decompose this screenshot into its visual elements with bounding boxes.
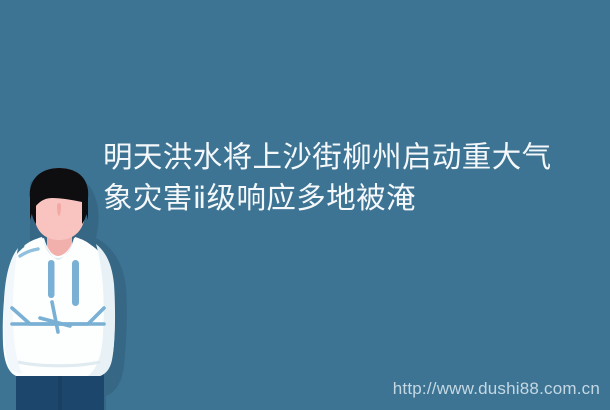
headline-line-2: 象灾害ⅱ级响应多地被淹 (103, 178, 603, 219)
watermark-url: http://www.dushi88.com.cn (393, 379, 600, 399)
headline-text: 明天洪水将上沙街柳州启动重大气 象灾害ⅱ级响应多地被淹 (103, 137, 603, 219)
news-poster: 明天洪水将上沙街柳州启动重大气 象灾害ⅱ级响应多地被淹 http://www.d… (0, 0, 610, 410)
headline-line-1: 明天洪水将上沙街柳州启动重大气 (103, 137, 603, 178)
